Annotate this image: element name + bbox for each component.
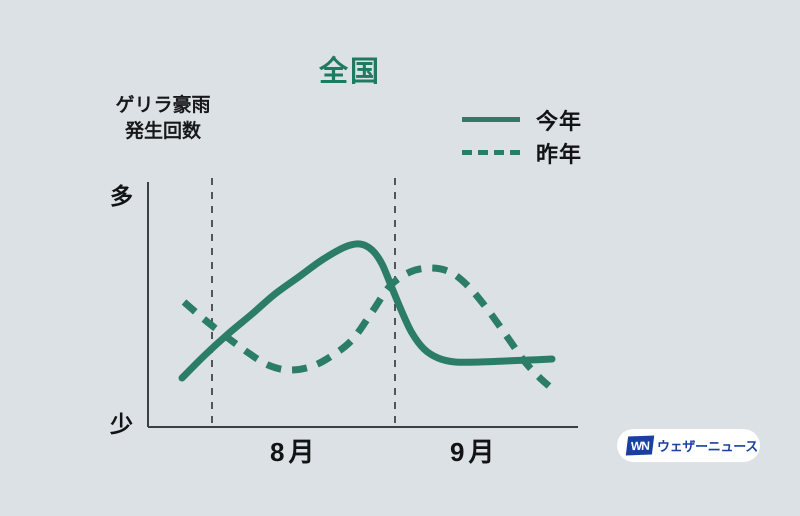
- series-line-this-year: [182, 244, 552, 378]
- chart-canvas: 全国 ゲリラ豪雨 発生回数 多 少 8月 9月 今年 昨年 WN ウェザーニ: [0, 0, 800, 516]
- watermark-label: ウェザーニュース: [657, 436, 758, 455]
- watermark-badge: WN ウェザーニュース: [617, 429, 760, 462]
- weathernews-logo-icon: WN: [626, 436, 654, 456]
- weathernews-logo-text: WN: [631, 438, 650, 453]
